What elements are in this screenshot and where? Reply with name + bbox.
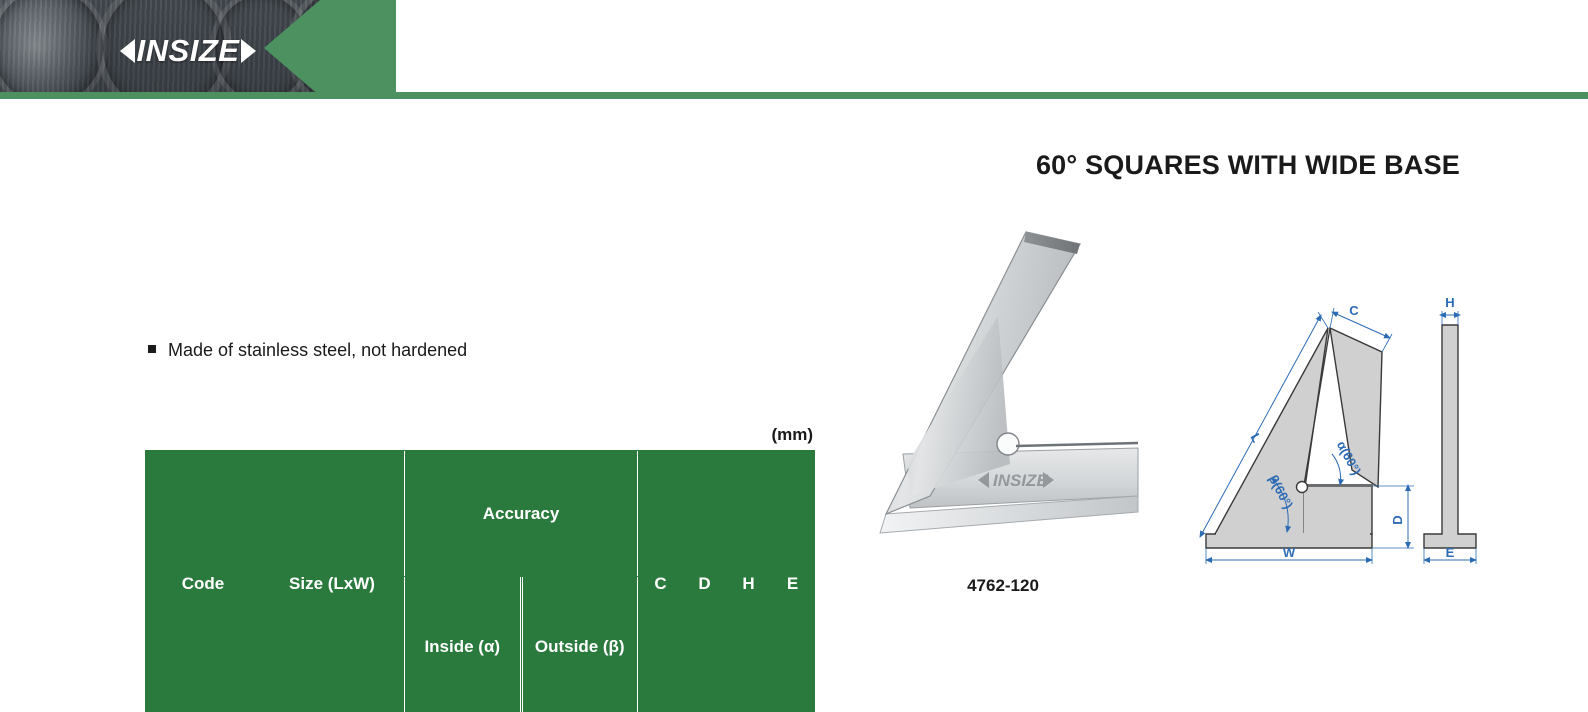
- product-logo-text: INSIZE: [993, 471, 1048, 490]
- product-caption: 4762-120: [858, 576, 1148, 596]
- col-header-inside: Inside (α): [404, 577, 522, 712]
- product-relief-hole: [997, 433, 1019, 455]
- drawing-arm: [1304, 485, 1372, 534]
- product-inner-edge: [1016, 443, 1138, 446]
- specification-table: Code Size (LxW) Accuracy C D H E Inside …: [145, 450, 815, 712]
- technical-drawing: C L D W α(60°) β(60°): [1180, 282, 1480, 567]
- col-header-code: Code: [146, 451, 261, 712]
- col-header-size: Size (LxW): [261, 451, 404, 712]
- col-header-d: D: [683, 451, 727, 712]
- col-header-e: E: [771, 451, 815, 712]
- header-green-block: [370, 0, 396, 96]
- feature-text: Made of stainless steel, not hardened: [168, 340, 467, 361]
- table-header: Code Size (LxW) Accuracy C D H E Inside …: [146, 451, 815, 712]
- dim-label-c: C: [1349, 303, 1359, 318]
- product-image: INSIZE: [858, 196, 1148, 566]
- drawing-svg: C L D W α(60°) β(60°): [1180, 282, 1480, 567]
- col-header-h: H: [727, 451, 771, 712]
- dim-label-d: D: [1390, 515, 1405, 524]
- page-header: INSIZE: [0, 0, 1588, 100]
- dim-label-l: L: [1247, 431, 1264, 445]
- drawing-side-view: [1424, 325, 1476, 548]
- col-header-outside: Outside (β): [521, 577, 639, 712]
- list-item: Made of stainless steel, not hardened: [148, 340, 467, 361]
- col-header-c: C: [639, 451, 683, 712]
- unit-label: (mm): [145, 425, 815, 445]
- arrow-right-icon: [241, 39, 256, 63]
- specification-table-wrap: (mm) Code Size (LxW) Accuracy C D H E In…: [145, 425, 815, 712]
- arrow-left-icon: [120, 39, 135, 63]
- feature-list: Made of stainless steel, not hardened: [148, 340, 467, 361]
- drawing-relief-hole: [1297, 482, 1308, 493]
- product-photo: INSIZE: [858, 196, 1148, 566]
- bullet-square-icon: [148, 345, 156, 353]
- dim-label-w: W: [1283, 545, 1296, 560]
- dim-label-e: E: [1446, 545, 1455, 560]
- header-green-rule: [0, 92, 1588, 99]
- angle-arc-alpha: [1332, 454, 1341, 485]
- catalog-page: INSIZE 60° SQUARES WITH WIDE BASE Made o…: [0, 0, 1588, 712]
- insize-logo: INSIZE: [98, 33, 278, 69]
- logo-wordmark: INSIZE: [137, 33, 240, 69]
- dim-label-h: H: [1445, 295, 1454, 310]
- col-header-accuracy: Accuracy: [404, 451, 639, 577]
- page-title: 60° SQUARES WITH WIDE BASE: [1036, 150, 1460, 181]
